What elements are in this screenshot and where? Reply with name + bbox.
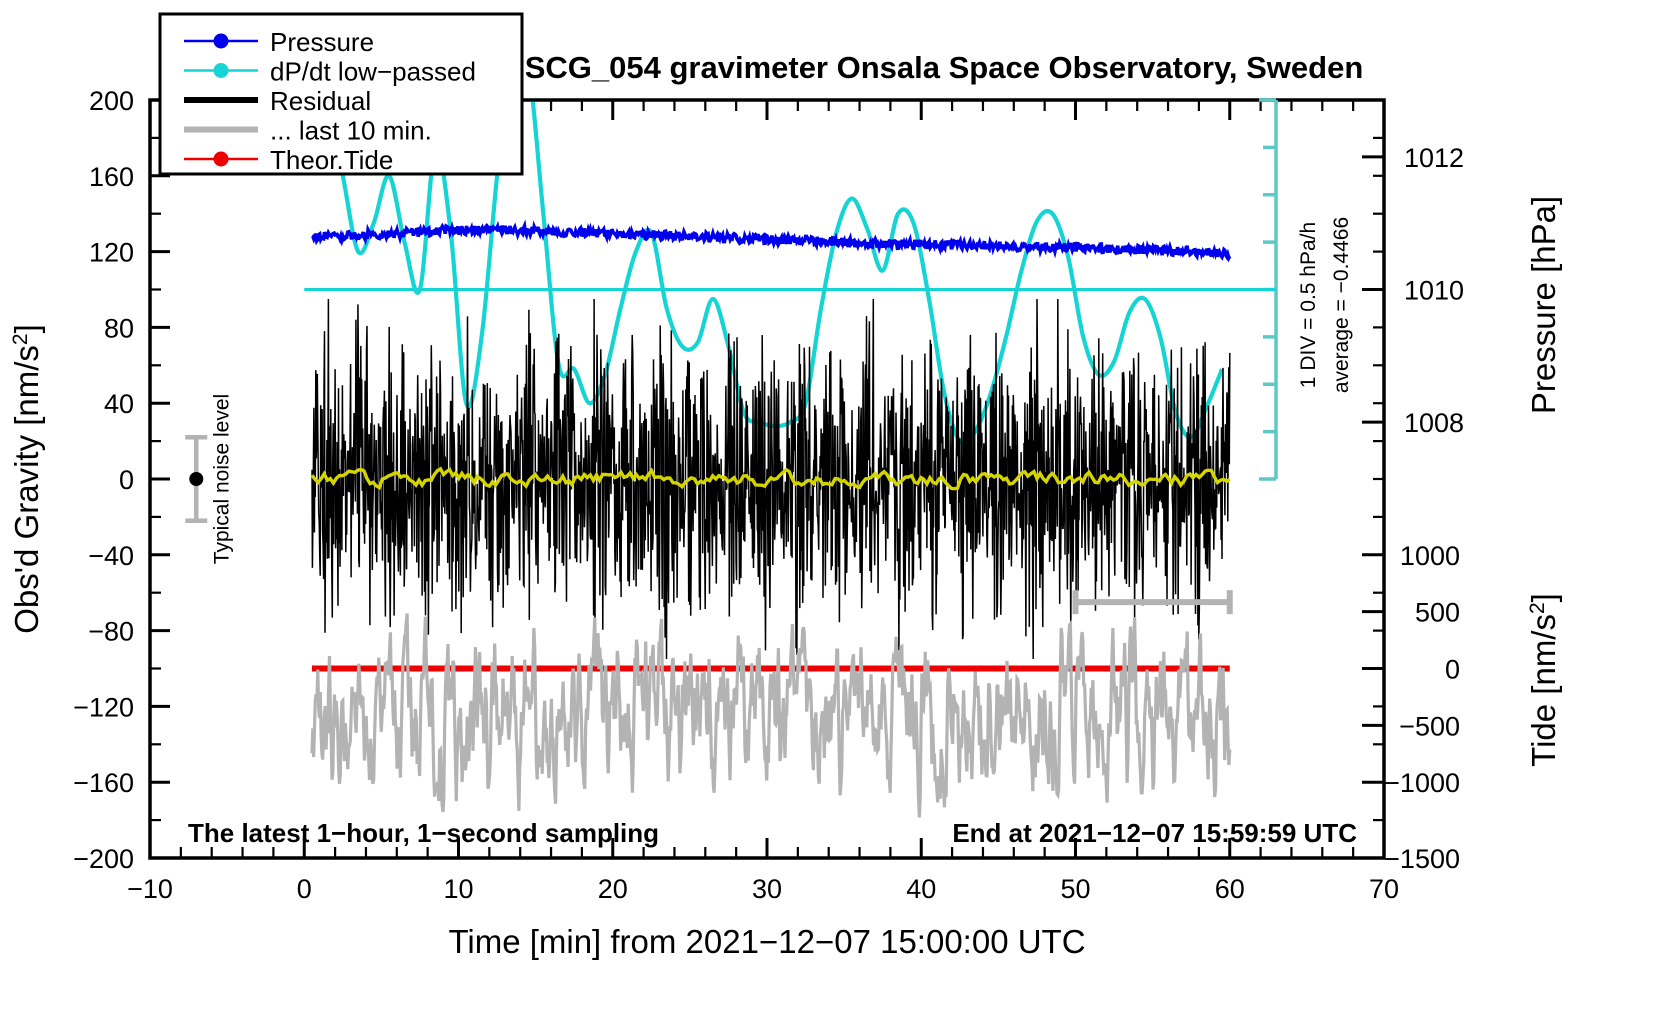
y-right-tide-tick-label: −500 (1399, 711, 1460, 741)
y-left-tick-label: 160 (89, 162, 134, 192)
footer-left-text: The latest 1−hour, 1−second sampling (188, 818, 659, 848)
y-right-tide-tick-label: 1000 (1400, 541, 1460, 571)
chart-page: −10010203040506070Time [min] from 2021−1… (0, 0, 1660, 1020)
chart-title: SCG_054 gravimeter Onsala Space Observat… (525, 50, 1364, 85)
y-right-tide-title: Tide [nm/s2] (1525, 593, 1562, 767)
x-tick-label: 60 (1215, 874, 1245, 904)
legend-item-label: dP/dt low−passed (270, 57, 476, 87)
legend-item-label: Pressure (270, 27, 374, 57)
y-left-tick-label: 40 (104, 389, 134, 419)
y-left-tick-label: −200 (73, 844, 134, 874)
y-right-pressure-tick-label: 1010 (1404, 276, 1464, 306)
dpdt-scale-annotation: 1 DIV = 0.5 hPa/h (1297, 222, 1320, 388)
x-tick-label: 50 (1060, 874, 1090, 904)
y-right-pressure-tick-label: 1012 (1404, 143, 1464, 173)
y-left-tick-label: −80 (88, 617, 134, 647)
y-right-tide-tick-label: −1500 (1384, 844, 1460, 874)
legend-item-label: ... last 10 min. (270, 116, 432, 146)
x-axis-title: Time [min] from 2021−12−07 15:00:00 UTC (448, 923, 1085, 960)
dpdt-average-annotation: average = −0.4466 (1330, 217, 1353, 393)
legend-item-label: Theor.Tide (270, 145, 393, 175)
noise-level-label: Typical noise level (210, 394, 233, 564)
y-left-tick-label: 80 (104, 313, 134, 343)
y-right-tide-tick-label: 500 (1415, 598, 1460, 628)
y-left-tick-label: −40 (88, 541, 134, 571)
y-left-tick-label: 0 (119, 465, 134, 495)
y-left-tick-label: 200 (89, 86, 134, 116)
chart-element: 2 (1526, 602, 1549, 614)
gravimeter-chart: −10010203040506070Time [min] from 2021−1… (0, 0, 1660, 1020)
x-tick-label: 70 (1369, 874, 1399, 904)
x-tick-label: 30 (752, 874, 782, 904)
x-tick-label: 40 (906, 874, 936, 904)
legend-marker (214, 152, 229, 167)
chart-element: 2 (9, 333, 32, 345)
y-left-axis-title: Obs'd Gravity [nm/s2] (8, 324, 45, 634)
y-right-tide-tick-label: −1000 (1384, 768, 1460, 798)
y-right-pressure-title: Pressure [hPa] (1525, 196, 1562, 414)
legend-marker (214, 34, 229, 49)
y-right-tide-tick-label: 0 (1445, 655, 1460, 685)
chart-element: ] (8, 324, 45, 333)
y-right-pressure-tick-label: 1008 (1404, 408, 1464, 438)
x-tick-label: 0 (297, 874, 312, 904)
chart-element: ] (1525, 593, 1562, 602)
footer-right-text: End at 2021−12−07 15:59:59 UTC (952, 818, 1357, 848)
legend-item-label: Residual (270, 86, 371, 116)
y-left-tick-label: −120 (73, 692, 134, 722)
x-tick-label: −10 (127, 874, 173, 904)
chart-element: Obs'd Gravity [nm/s (8, 345, 45, 634)
noise-level-point (189, 472, 203, 486)
chart-element: Tide [nm/s (1525, 614, 1562, 767)
x-tick-label: 20 (598, 874, 628, 904)
x-tick-label: 10 (443, 874, 473, 904)
y-left-tick-label: −160 (73, 768, 134, 798)
y-left-tick-label: 120 (89, 238, 134, 268)
legend-marker (214, 63, 229, 78)
